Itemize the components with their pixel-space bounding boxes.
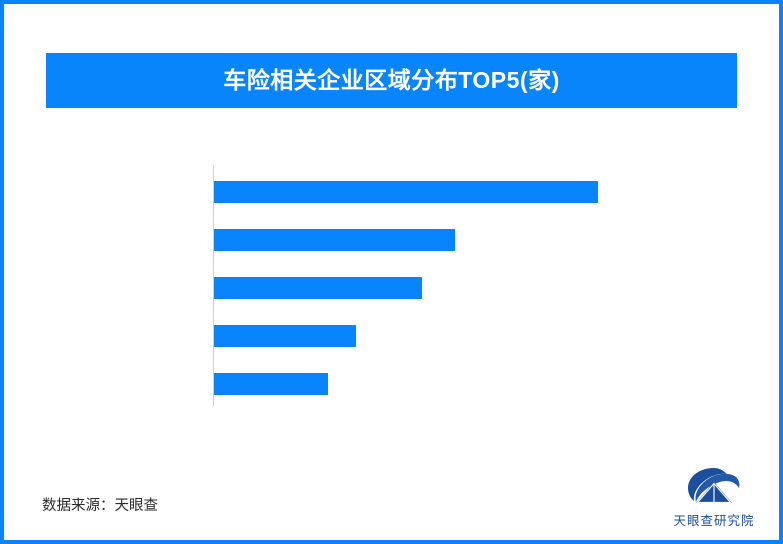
bar-value-广东省 bbox=[214, 325, 356, 347]
chart-plot-area: 安徽省 山东省 河北省 广东省 贵州省 bbox=[4, 4, 783, 544]
chart-canvas: 车险相关企业区域分布TOP5(家) 安徽省 山东省 河北省 广东省 贵州省 数据… bbox=[0, 0, 783, 544]
tianyancha-eye-logo-icon bbox=[686, 466, 742, 508]
bar-value-贵州省 bbox=[214, 373, 328, 395]
bar-value-安徽省 bbox=[214, 181, 598, 203]
brand-logo: 天眼查研究院 bbox=[664, 466, 764, 536]
data-source-note: 数据来源：天眼查 bbox=[42, 494, 158, 515]
brand-logo-text: 天眼查研究院 bbox=[673, 510, 754, 529]
bar-value-山东省 bbox=[214, 229, 455, 251]
bar-value-河北省 bbox=[214, 277, 422, 299]
